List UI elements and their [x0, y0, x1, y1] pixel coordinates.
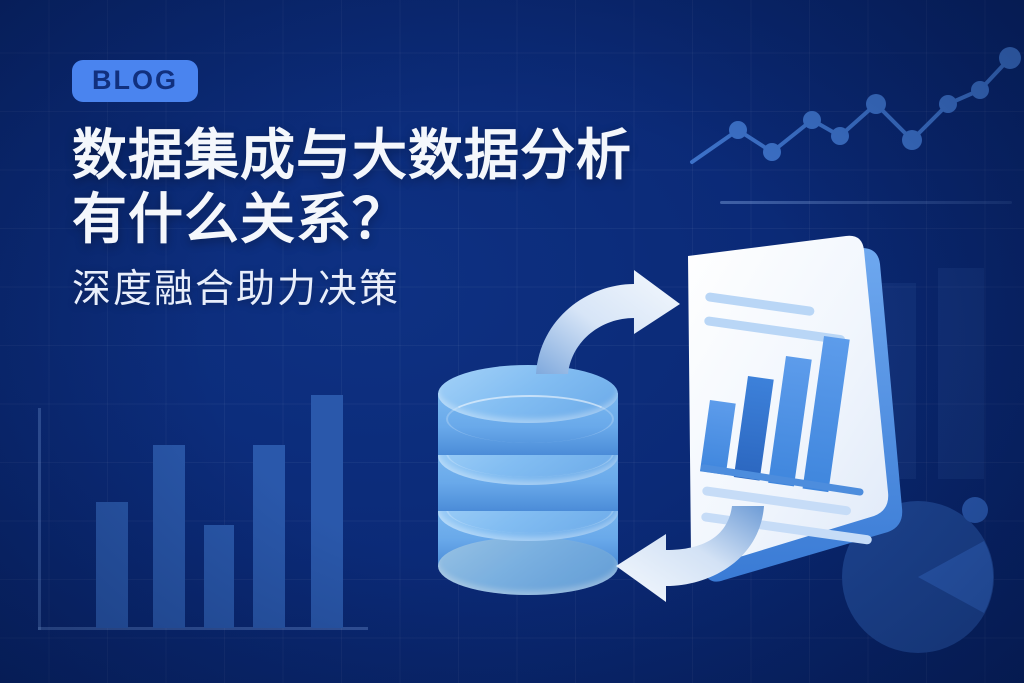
left-chart-bar-2 [153, 445, 185, 628]
blog-cover-banner: BLOG 数据集成与大数据分析 有什么关系？ 深度融合助力决策 [0, 0, 1024, 683]
pie-legend-dot [962, 497, 988, 523]
left-chart-bar-3 [204, 525, 234, 628]
db-highlight-1 [446, 395, 614, 443]
left-chart-y-axis [38, 408, 41, 630]
background-left-bar-chart [38, 378, 368, 636]
blog-badge[interactable]: BLOG [72, 60, 198, 102]
left-chart-bar-4 [253, 445, 285, 628]
pie-slice-minor [918, 541, 993, 613]
page-subtitle: 深度融合助力决策 [72, 269, 772, 312]
left-chart-bar-5 [311, 395, 343, 628]
arrow-back-shape [616, 506, 764, 602]
data-source-cylinder [438, 365, 618, 590]
left-chart-x-axis [38, 627, 368, 630]
page-title-line-2: 有什么关系？ [72, 188, 772, 252]
page-title-line-1: 数据集成与大数据分析 [72, 124, 772, 188]
line-chart-points [729, 47, 1021, 161]
cover-text-block: BLOG 数据集成与大数据分析 有什么关系？ 深度融合助力决策 [72, 60, 772, 311]
faint-bar-2 [938, 268, 984, 479]
page-title: 数据集成与大数据分析 有什么关系？ [72, 124, 772, 252]
left-chart-bar-1 [96, 502, 128, 628]
arrow-back-icon [600, 500, 770, 610]
db-bottom-cap [438, 537, 618, 595]
